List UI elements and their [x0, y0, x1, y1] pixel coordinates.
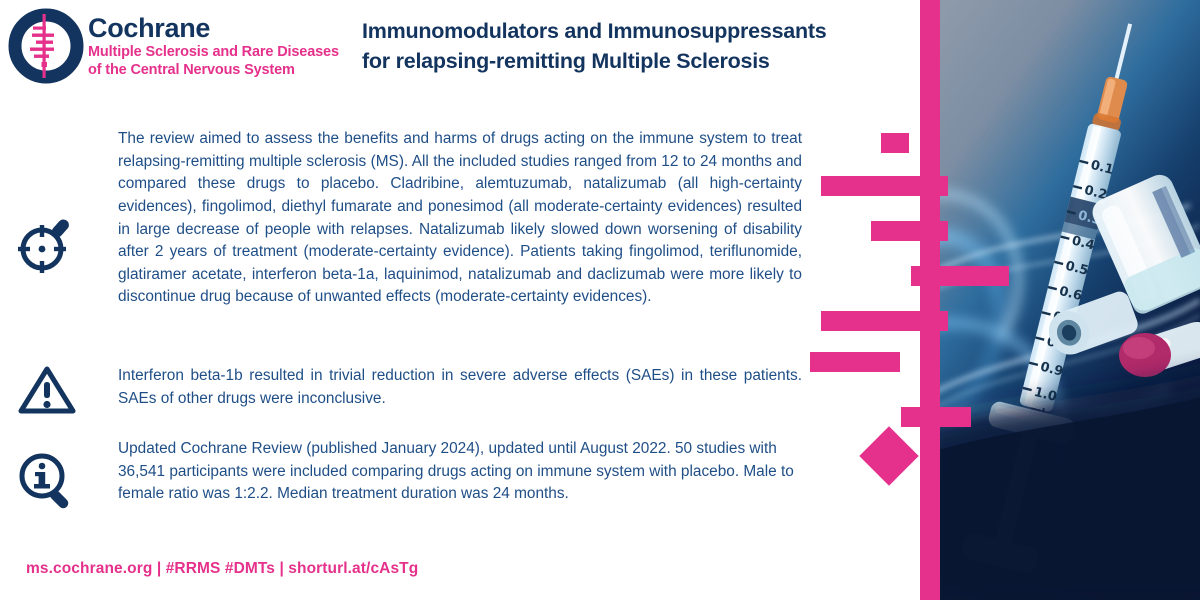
cochrane-forest-plot-logo-icon [8, 8, 84, 84]
right-graphic-panel: 0.1 0.2 0.3 0.4 0.5 0.6 0.7 0.8 0.9 1.0 … [810, 0, 1200, 600]
info-magnifier-icon [8, 450, 86, 512]
brand-name: Cochrane [88, 14, 339, 42]
brand-subtitle-line2: of the Central Nervous System [88, 62, 295, 78]
hashtags[interactable]: #RRMS #DMTs [166, 560, 275, 577]
footer-separator-2: | [279, 560, 283, 577]
content-area: The review aimed to assess the benefits … [0, 100, 820, 540]
footer-separator-1: | [157, 560, 161, 577]
poster-header: Cochrane Multiple Sclerosis and Rare Dis… [0, 0, 940, 100]
website-link[interactable]: ms.cochrane.org [26, 560, 152, 577]
study-details-paragraph: Updated Cochrane Review (published Janua… [118, 438, 802, 506]
target-crosshair-icon [8, 212, 86, 276]
forest-plot-bar [821, 176, 948, 196]
syringe-vial-pills-photo: 0.1 0.2 0.3 0.4 0.5 0.6 0.7 0.8 0.9 1.0 … [940, 0, 1200, 600]
warning-triangle-icon [8, 365, 86, 415]
footer-bar: ms.cochrane.org | #RRMS #DMTs | shorturl… [26, 560, 418, 578]
poster-canvas: Cochrane Multiple Sclerosis and Rare Dis… [0, 0, 1200, 600]
safety-paragraph: Interferon beta-1b resulted in trivial r… [118, 365, 802, 410]
forest-plot-summary-diamond [859, 426, 918, 485]
aim-paragraph: The review aimed to assess the benefits … [118, 128, 802, 309]
forest-plot-bar [871, 221, 948, 241]
forest-plot-bar [810, 352, 900, 372]
forest-plot-bar [821, 311, 948, 331]
forest-plot-no-effect-line [920, 0, 940, 600]
forest-plot-bar [881, 133, 909, 153]
brand-text-group: Cochrane Multiple Sclerosis and Rare Dis… [88, 14, 339, 80]
shorturl-link[interactable]: shorturl.at/cAsTg [288, 560, 418, 577]
brand-subtitle: Multiple Sclerosis and Rare Diseases of … [88, 44, 339, 79]
brand-subtitle-line1: Multiple Sclerosis and Rare Diseases [88, 44, 339, 60]
cochrane-logo [8, 8, 84, 84]
